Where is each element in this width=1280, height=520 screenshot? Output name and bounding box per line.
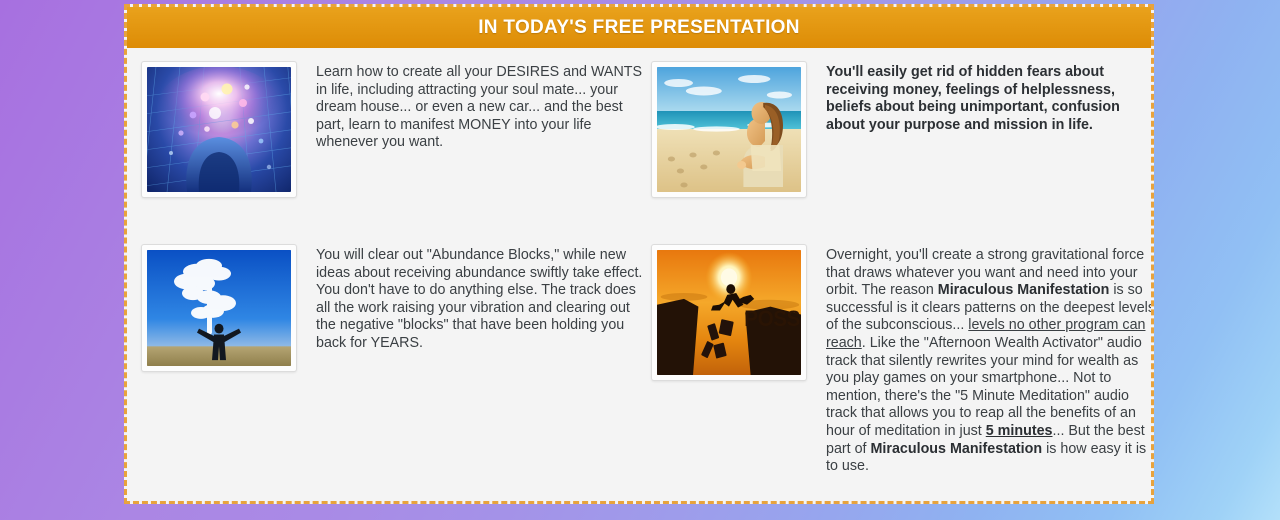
benefits-grid: Learn how to create all your DESIRES and…	[127, 48, 1151, 504]
possible-word-text: POSSIBLE	[744, 305, 801, 331]
page-title: IN TODAY'S FREE PRESENTATION	[478, 17, 800, 39]
beach-meditation-image	[657, 67, 801, 192]
cosmic-brain-thumb-frame[interactable]	[141, 61, 297, 198]
beach-meditation-thumb-frame[interactable]	[651, 61, 807, 198]
dollar-cloud-thumb-frame[interactable]	[141, 244, 297, 372]
benefit-item-clear-abundance-blocks: You will clear out "Abundance Blocks," w…	[141, 244, 651, 476]
promo-panel: IN TODAY'S FREE PRESENTATION	[124, 4, 1154, 504]
benefit-item-gravitational-force: POSSIBLE Overnight, you'll create a stro…	[651, 244, 1154, 476]
benefit-text-gravitational-force: Overnight, you'll create a strong gravit…	[826, 244, 1154, 476]
impossible-to-possible-thumb-frame[interactable]: POSSIBLE	[651, 244, 807, 381]
headline-bar: IN TODAY'S FREE PRESENTATION	[127, 7, 1151, 48]
benefit-item-release-hidden-fears: You'll easily get rid of hidden fears ab…	[651, 61, 1154, 198]
dollar-cloud-image	[147, 250, 291, 366]
benefit-text-desires-and-wants: Learn how to create all your DESIRES and…	[316, 61, 645, 152]
impossible-to-possible-image: POSSIBLE	[657, 250, 801, 375]
benefit-item-desires-and-wants: Learn how to create all your DESIRES and…	[141, 61, 651, 198]
benefit-text-clear-abundance-blocks: You will clear out "Abundance Blocks," w…	[316, 244, 645, 353]
benefit-text-release-hidden-fears: You'll easily get rid of hidden fears ab…	[826, 61, 1154, 134]
cosmic-brain-image	[147, 67, 291, 192]
